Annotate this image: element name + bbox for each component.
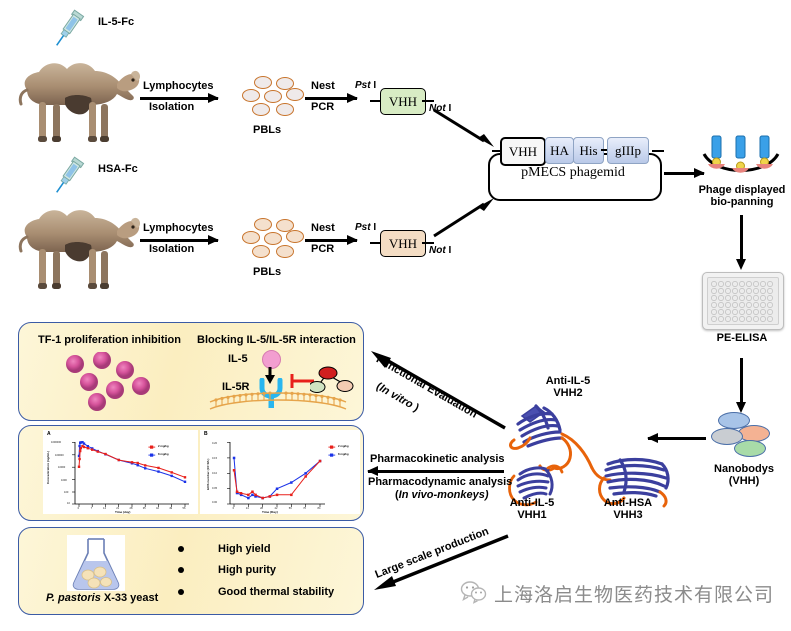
enzyme-name: Not: [429, 245, 446, 256]
pd-label-line2: Pharmacodynamic analysis: [368, 476, 512, 490]
pbl-cluster-2: [240, 218, 310, 260]
strain-rest: X-33 yeast: [101, 592, 158, 604]
elisa-label: PE-ELISA: [702, 332, 782, 346]
bullet-1: [178, 567, 184, 573]
arrow-elisa-to-nanobodies: [740, 358, 743, 403]
arrow-to-panning: [664, 172, 704, 175]
elisa-plate-illustration: [702, 272, 784, 330]
chart-b-xtick-1: 14: [246, 507, 249, 510]
chart-a-xtick-8: 56: [183, 507, 186, 510]
enzyme-label-not1-2: Not I: [429, 245, 451, 258]
chart-b-container: B 0.20 0.15 0.10 0.05 0.00 EOS number (1…: [200, 430, 360, 514]
yeast-caption: P. pastoris X-33 yeast: [46, 592, 158, 606]
pbl-label-1: PBLs: [253, 124, 281, 138]
camel-illustration-1: [5, 38, 145, 150]
tf1-cells-illustration: [55, 352, 165, 419]
enzyme-label-pst1-1: Pst I: [355, 80, 376, 93]
arrow-to-phagemid-2: [432, 190, 498, 243]
chart-b-xtick-4: 56: [289, 507, 292, 510]
chart-b-legend-0: 2 mg/kg: [338, 444, 349, 448]
step-label-nest-2: Nest: [311, 222, 335, 236]
cell-membrane-icon: [208, 388, 348, 419]
pbl-cluster-1: [240, 76, 310, 118]
chart-b-xlabel: Time (Day): [262, 510, 278, 514]
il5-ligand-label: IL-5: [228, 353, 248, 367]
nanobody-blobs: [710, 412, 776, 458]
panel-title-tf1: TF-1 proliferation inhibition: [38, 334, 181, 348]
step-label-nest-1: Nest: [311, 80, 335, 94]
step-label-isolation-2: Isolation: [149, 243, 194, 257]
chart-a-xtick-6: 42: [156, 507, 159, 510]
cassette-ha: HA: [545, 137, 574, 164]
pbl-label-2: PBLs: [253, 266, 281, 280]
step-label-pcr-1: PCR: [311, 101, 334, 115]
chart-b-legend-1: 8 mg/kg: [338, 452, 349, 456]
cassette-giiip: gIIIp: [607, 137, 649, 164]
production-bullet-1: High purity: [218, 564, 276, 578]
cassette-his: His: [573, 137, 604, 164]
enzyme-suffix: I: [371, 80, 377, 91]
enzyme-name: Pst: [355, 222, 371, 233]
arrow-lymphocyte-isolation-1: [140, 97, 218, 100]
chart-a-xtick-5: 35: [143, 507, 146, 510]
chart-a-xtick-0: 0: [78, 507, 79, 510]
chart-a-legend-1: 8 mg/kg: [158, 452, 169, 456]
camel-illustration-2: [5, 185, 145, 297]
arrow-nest-pcr-2: [305, 239, 357, 242]
structure-label-vhh3-line2: VHH3: [588, 509, 668, 523]
step-label-isolation-1: Isolation: [149, 101, 194, 115]
chart-a-xtick-2: 14: [103, 507, 106, 510]
step-label-pcr-2: PCR: [311, 243, 334, 257]
panel-title-blocking: Blocking IL-5/IL-5R interaction: [197, 334, 356, 348]
chart-a-xtick-1: 7: [91, 507, 92, 510]
bullet-0: [178, 546, 184, 552]
chart-a-container: A 1000000 100000 10000 1000 100 10 Conce…: [43, 430, 198, 514]
production-bullet-0: High yield: [218, 543, 271, 557]
vivo-monkeys: vivo-monkeys): [408, 489, 488, 501]
vhh-gene-box-2: VHH: [380, 230, 426, 257]
step-label-lymphocytes-2: Lymphocytes: [143, 222, 214, 236]
arrow-panning-to-elisa: [740, 215, 743, 260]
cassette-vhh: VHH: [500, 137, 546, 166]
step-label-lymphocytes-1: Lymphocytes: [143, 80, 214, 94]
chart-b-xtick-0: 0: [233, 507, 234, 510]
structure-label-vhh1-line2: VHH1: [492, 509, 572, 523]
enzyme-name: Pst: [355, 80, 371, 91]
nanobody-label-line2: (VHH): [700, 475, 788, 489]
bullet-2: [178, 589, 184, 595]
phage-panning-illustration: [700, 134, 782, 191]
enzyme-label-pst1-2: Pst I: [355, 222, 376, 235]
yeast-flask-illustration: [67, 535, 125, 591]
enzyme-suffix: I: [371, 222, 377, 233]
chart-a-xlabel: Time (day): [115, 510, 130, 514]
vhh-gene-box-1: VHH: [380, 88, 426, 115]
antigen-label-hsafc: HSA-Fc: [98, 163, 138, 177]
antigen-label-il5fc: IL-5-Fc: [98, 16, 134, 30]
chart-b-xtick-6: 84: [318, 507, 321, 510]
production-bullet-2: Good thermal stability: [218, 586, 334, 600]
species-italic: P. pastoris: [46, 592, 101, 604]
arrow-lymphocyte-isolation-2: [140, 239, 218, 242]
arrow-to-phagemid-1: [432, 108, 498, 157]
chart-b-xtick-5: 70: [303, 507, 306, 510]
pd-label-line3: (In vivo-monkeys): [395, 489, 489, 503]
arrow-nest-pcr-1: [305, 97, 357, 100]
in-italic: In: [399, 489, 409, 501]
pk-label-line1: Pharmacokinetic analysis: [370, 453, 505, 467]
wechat-icon: [460, 580, 488, 609]
phagemid-name: pMECS phagemid: [488, 165, 658, 181]
chart-a-xtick-7: 49: [169, 507, 172, 510]
enzyme-suffix: I: [446, 245, 452, 256]
company-name-footer: 上海洛启生物医药技术有限公司: [494, 580, 774, 607]
panning-label-line2: bio-panning: [698, 196, 786, 210]
arrow-pharmacokinetic: [368, 470, 504, 473]
chart-a-legend-0: 2 mg/kg: [158, 444, 169, 448]
